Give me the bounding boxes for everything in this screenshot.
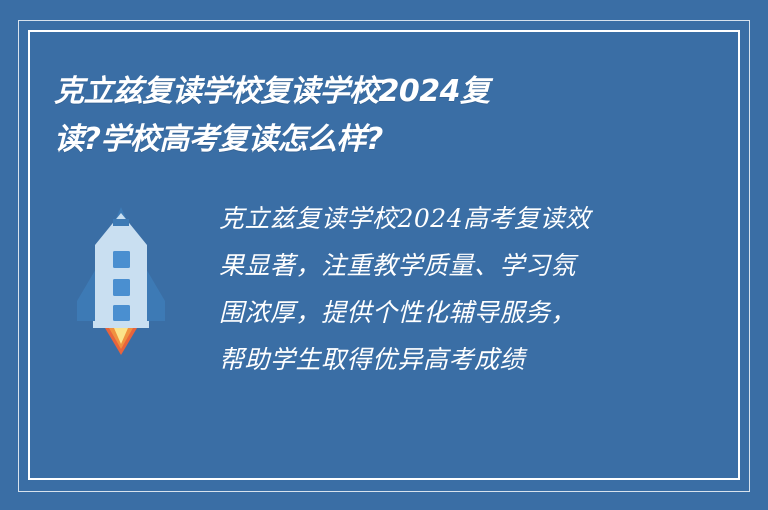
description-line-4: 帮助学生取得优异高考成绩: [219, 336, 740, 383]
description-line-2: 果显著，注重教学质量、学习氛: [219, 242, 740, 289]
illustration-container: [28, 195, 213, 357]
rocket-icon: [69, 205, 173, 357]
page-title-line-2: 读?学校高考复读怎么样?: [54, 116, 694, 164]
page-title: 克立兹复读学校复读学校2024复 读?学校高考复读怎么样?: [54, 68, 694, 164]
content-row: 克立兹复读学校2024高考复读效 果显著，注重教学质量、学习氛 围浓厚，提供个性…: [28, 195, 740, 383]
description-line-3: 围浓厚，提供个性化辅导服务，: [219, 289, 740, 336]
poster-canvas: 克立兹复读学校复读学校2024复 读?学校高考复读怎么样?: [0, 0, 768, 510]
description-text: 克立兹复读学校2024高考复读效 果显著，注重教学质量、学习氛 围浓厚，提供个性…: [213, 195, 740, 383]
page-title-line-1: 克立兹复读学校复读学校2024复: [54, 68, 694, 116]
description-line-1: 克立兹复读学校2024高考复读效: [219, 195, 740, 242]
